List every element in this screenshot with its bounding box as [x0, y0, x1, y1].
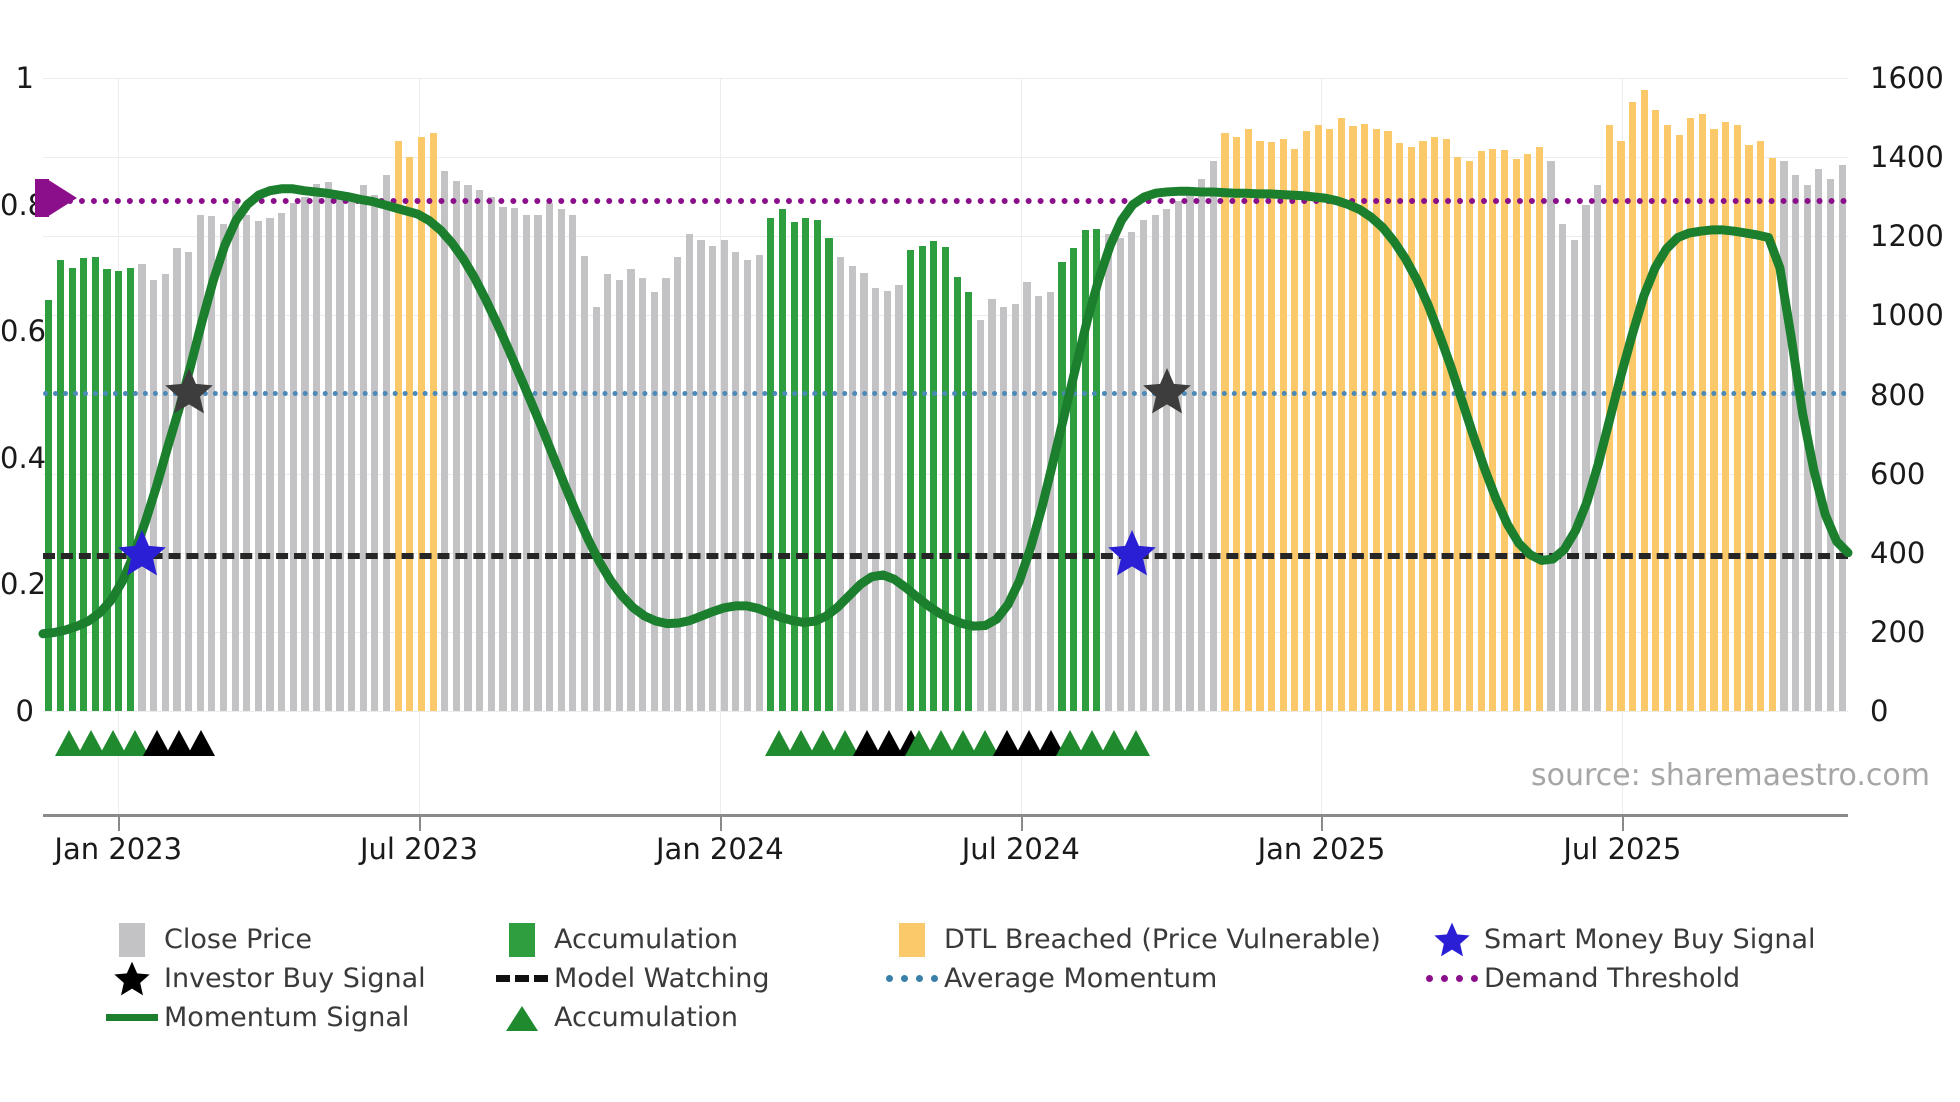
legend-item-demand-threshold[interactable]: Demand Threshold — [1420, 959, 1740, 998]
legend-label: DTL Breached (Price Vulnerable) — [944, 926, 1381, 953]
left-axis-tick-label: 0.4 — [0, 441, 34, 475]
triangle-icon — [490, 1003, 554, 1033]
left-axis-tick-label: 1 — [0, 61, 34, 95]
dotted-line-icon — [880, 975, 944, 982]
x-axis-line — [43, 814, 1848, 817]
right-axis-tick-label: 200 — [1870, 615, 1925, 649]
x-axis-tick-mark — [1021, 817, 1023, 831]
legend-item-model-watching[interactable]: Model Watching — [490, 959, 880, 998]
left-axis-tick-label: 0 — [0, 694, 34, 728]
right-axis-tick-label: 1600 — [1870, 61, 1944, 95]
source-attribution: source: sharemaestro.com — [1531, 758, 1930, 793]
star-icon — [1420, 920, 1484, 960]
legend-item-dtl-breached[interactable]: DTL Breached (Price Vulnerable) — [880, 920, 1420, 959]
plot-area — [43, 78, 1848, 711]
accumulation-triangle-group — [55, 730, 209, 756]
square-icon — [490, 923, 554, 957]
triangle-icon — [1122, 730, 1150, 756]
legend-label: Accumulation — [554, 926, 738, 953]
x-axis-tick-label: Jan 2025 — [1258, 832, 1386, 866]
momentum-signal-curve — [43, 78, 1848, 711]
accumulation-triangle-group — [1056, 730, 1144, 756]
right-axis-tick-label: 0 — [1870, 694, 1888, 728]
triangle-icon — [187, 730, 215, 756]
legend-item-accumulation-bar[interactable]: Accumulation — [490, 920, 880, 959]
legend-label: Average Momentum — [944, 965, 1217, 992]
legend-row-3: Momentum Signal Accumulation — [100, 998, 1930, 1037]
right-axis-tick-label: 1000 — [1870, 298, 1944, 332]
left-axis-tick-label: 0.2 — [0, 567, 34, 601]
legend-label: Model Watching — [554, 965, 769, 992]
right-axis-tick-label: 400 — [1870, 536, 1925, 570]
legend-label: Demand Threshold — [1484, 965, 1740, 992]
investor-buy-signal-star-icon — [163, 365, 215, 417]
dashed-line-icon — [490, 975, 554, 982]
legend-label: Accumulation — [554, 1004, 738, 1031]
smart-money-buy-signal-star-icon — [116, 527, 168, 579]
star-icon — [100, 959, 164, 999]
x-axis-tick-mark — [720, 817, 722, 831]
left-axis-tick-label: 0.8 — [0, 188, 34, 222]
legend-label: Investor Buy Signal — [164, 965, 426, 992]
legend-row-1: Close Price Accumulation DTL Breached (P… — [100, 920, 1930, 959]
right-axis-tick-label: 1400 — [1870, 140, 1944, 174]
investor-buy-signal-star-icon — [1141, 365, 1193, 417]
x-axis-tick-label: Jul 2023 — [360, 832, 478, 866]
legend-item-smart-money-buy-signal[interactable]: Smart Money Buy Signal — [1420, 920, 1816, 959]
solid-line-icon — [100, 1014, 164, 1021]
x-axis-tick-label: Jan 2023 — [54, 832, 182, 866]
legend-label: Momentum Signal — [164, 1004, 409, 1031]
right-axis-tick-label: 600 — [1870, 457, 1925, 491]
x-axis-tick-mark — [118, 817, 120, 831]
momentum-line — [43, 189, 1848, 634]
gridline — [43, 711, 1848, 712]
x-axis-tick-label: Jul 2025 — [1563, 832, 1681, 866]
x-axis-tick-label: Jul 2024 — [962, 832, 1080, 866]
x-axis-tick-mark — [419, 817, 421, 831]
legend-item-investor-buy-signal[interactable]: Investor Buy Signal — [100, 959, 490, 998]
chart-legend: Close Price Accumulation DTL Breached (P… — [100, 920, 1930, 1037]
x-axis-tick-mark — [1321, 817, 1323, 831]
legend-item-close-price[interactable]: Close Price — [100, 920, 490, 959]
accumulation-triangle-group — [905, 730, 1059, 756]
legend-label: Close Price — [164, 926, 312, 953]
dotted-line-icon — [1420, 975, 1484, 982]
legend-item-momentum-signal[interactable]: Momentum Signal — [100, 998, 490, 1037]
right-axis-tick-label: 800 — [1870, 378, 1925, 412]
smart-money-buy-signal-star-icon — [1106, 527, 1158, 579]
legend-item-accumulation-triangle[interactable]: Accumulation — [490, 998, 880, 1037]
right-axis-tick-label: 1200 — [1870, 219, 1944, 253]
square-icon — [880, 923, 944, 957]
accumulation-triangle-group — [765, 730, 919, 756]
x-axis-tick-mark — [1622, 817, 1624, 831]
left-axis-tick-label: 0.6 — [0, 314, 34, 348]
legend-row-2: Investor Buy Signal Model Watching Avera… — [100, 959, 1930, 998]
legend-item-average-momentum[interactable]: Average Momentum — [880, 959, 1420, 998]
legend-label: Smart Money Buy Signal — [1484, 926, 1816, 953]
x-axis-tick-label: Jan 2024 — [656, 832, 784, 866]
financial-chart: 00.20.40.60.81 0200400600800100012001400… — [0, 0, 1960, 1102]
square-icon — [100, 923, 164, 957]
